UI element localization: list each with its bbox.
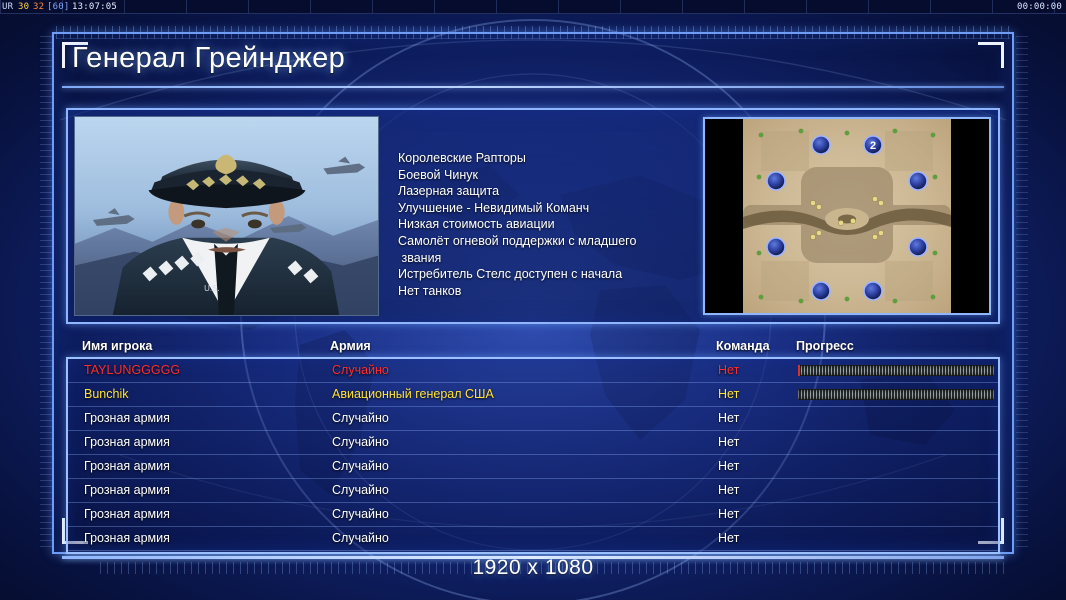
cell-team: Нет [718, 363, 739, 377]
fps-value-a: 30 [18, 0, 29, 14]
cell-army: Случайно [332, 483, 389, 497]
cell-player-name: Грозная армия [84, 531, 170, 545]
page-title: Генерал Грейнджер [72, 42, 345, 75]
system-clock: 13:07:05 [72, 0, 117, 14]
svg-text:U.S.: U.S. [204, 284, 219, 293]
table-row[interactable]: Грозная армияСлучайноНет [68, 479, 998, 503]
table-row[interactable]: TAYLUNGGGGGСлучайноНет [68, 359, 998, 383]
cell-player-name: Грозная армия [84, 435, 170, 449]
cell-army: Случайно [332, 411, 389, 425]
status-bar: UR 30 32 [60] 13:07:05 00:00:00 [0, 0, 1066, 14]
general-abilities-list: Королевские Рапторы Боевой Чинук Лазерна… [398, 150, 748, 299]
player-table: TAYLUNGGGGGСлучайноНетBunchikАвиационный… [66, 357, 1000, 554]
ability-item: Низкая стоимость авиации [398, 216, 748, 233]
cell-army: Случайно [332, 363, 389, 377]
game-timer: 00:00:00 [1017, 0, 1062, 14]
cell-army: Авиационный генерал США [332, 387, 494, 401]
cell-team: Нет [718, 411, 739, 425]
column-header-player-name: Имя игрока [82, 339, 152, 353]
cell-player-name: Грозная армия [84, 459, 170, 473]
ability-item: Истребитель Стелс доступен с начала [398, 266, 748, 283]
cell-army: Случайно [332, 531, 389, 545]
progress-bar [798, 389, 994, 400]
progress-bar [798, 365, 994, 376]
cell-team: Нет [718, 387, 739, 401]
cell-team: Нет [718, 459, 739, 473]
corner-bracket-top-right [978, 42, 1004, 68]
cell-player-name: Грозная армия [84, 507, 170, 521]
progress-bar-fill [798, 389, 994, 400]
table-row[interactable]: Грозная армияСлучайноНет [68, 407, 998, 431]
fps-label: UR [2, 0, 13, 14]
progress-bar-fill [798, 365, 994, 376]
cell-player-name: TAYLUNGGGGG [84, 363, 180, 377]
cell-army: Случайно [332, 507, 389, 521]
cell-team: Нет [718, 531, 739, 545]
resolution-label: 1920 x 1080 [0, 556, 1066, 580]
cell-player-name: Грозная армия [84, 483, 170, 497]
cell-army: Случайно [332, 435, 389, 449]
fps-value-b: 32 [33, 0, 44, 14]
fps-cap: [60] [47, 0, 69, 14]
map-preview-image: 2 [743, 119, 951, 313]
table-row[interactable]: Грозная армияСлучайноНет [68, 431, 998, 455]
column-header-progress: Прогресс [796, 339, 854, 353]
table-row[interactable]: BunchikАвиационный генерал СШАНет [68, 383, 998, 407]
page-title-container: Генерал Грейнджер [72, 42, 345, 75]
table-row[interactable]: Грозная армияСлучайноНет [68, 527, 998, 551]
ability-item: Боевой Чинук [398, 167, 748, 184]
cell-player-name: Bunchik [84, 387, 128, 401]
map-start-position-number: 2 [870, 140, 876, 152]
cell-team: Нет [718, 435, 739, 449]
general-portrait: U.S. [74, 116, 379, 316]
map-preview[interactable]: 2 [703, 117, 991, 315]
table-row[interactable]: Грозная армияСлучайноНет [68, 503, 998, 527]
ability-item: Королевские Рапторы [398, 150, 748, 167]
cell-player-name: Грозная армия [84, 411, 170, 425]
table-row[interactable]: Грозная армияСлучайноНет [68, 455, 998, 479]
ability-item: Лазерная защита [398, 183, 748, 200]
progress-bar-marker [798, 365, 800, 376]
cell-team: Нет [718, 483, 739, 497]
cell-army: Случайно [332, 459, 389, 473]
status-bar-grid [0, 0, 1066, 13]
column-header-team: Команда [716, 339, 770, 353]
cell-team: Нет [718, 507, 739, 521]
player-table-header: Имя игрока Армия Команда Прогресс [82, 339, 1002, 357]
general-info-panel: U.S. Королевские Рапторы Боевой Чинук Ла… [66, 108, 1000, 324]
ability-item: Нет танков [398, 283, 748, 300]
title-divider [62, 86, 1004, 88]
ability-item: Улучшение - Невидимый Команч [398, 200, 748, 217]
column-header-army: Армия [330, 339, 371, 353]
ability-item: Самолёт огневой поддержки с младшего зва… [398, 233, 748, 266]
